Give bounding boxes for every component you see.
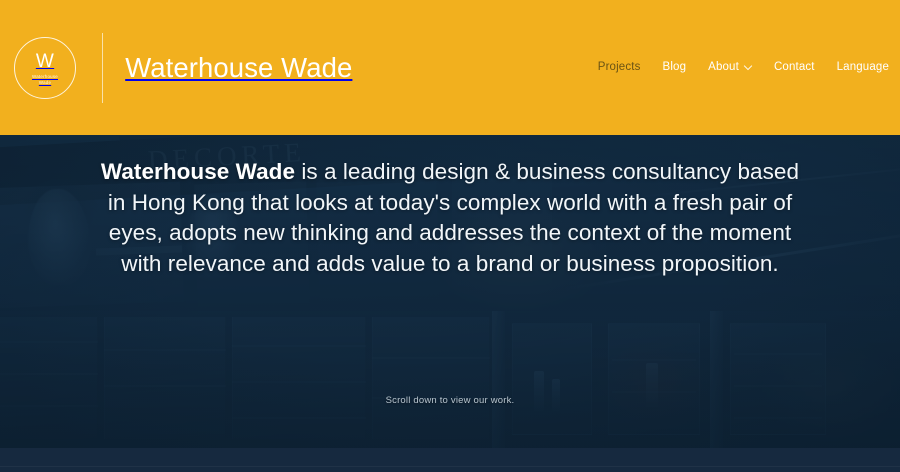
footer-divider: [0, 466, 900, 467]
nav-item-blog-label: Blog: [663, 61, 687, 73]
nav-item-projects-label: Projects: [598, 61, 641, 73]
circle-monogram-logo-icon: W Waterhouse Wade: [14, 37, 76, 99]
page-root: W Waterhouse Wade Waterhouse Wade Projec…: [0, 0, 900, 472]
site-footer: [0, 448, 900, 472]
hero-copy: Waterhouse Wade is a leading design & bu…: [0, 157, 900, 279]
nav-item-contact[interactable]: Contact: [763, 58, 826, 76]
nav-item-about[interactable]: About: [697, 58, 763, 76]
main-nav: Projects Blog About Contact Language: [587, 58, 900, 76]
hero-statement: Waterhouse Wade is a leading design & bu…: [90, 157, 810, 279]
hero-statement-brand: Waterhouse Wade: [101, 159, 295, 184]
brand-home-link[interactable]: W Waterhouse Wade Waterhouse Wade: [14, 30, 352, 106]
nav-item-contact-label: Contact: [774, 61, 815, 73]
scroll-hint[interactable]: Scroll down to view our work.: [0, 395, 900, 406]
brand-divider: [102, 33, 103, 103]
nav-item-about-label: About: [708, 61, 739, 73]
nav-item-blog[interactable]: Blog: [652, 58, 698, 76]
nav-item-language[interactable]: Language: [826, 58, 900, 76]
nav-item-language-label: Language: [837, 61, 889, 73]
logo-monogram: W: [36, 52, 54, 71]
wordmark: Waterhouse Wade: [125, 54, 352, 82]
nav-item-projects[interactable]: Projects: [587, 58, 652, 76]
logo-sub-line-2: Wade: [39, 80, 51, 86]
chevron-down-icon: [745, 63, 752, 70]
hero-section: DECORTE: [0, 135, 900, 448]
site-header: W Waterhouse Wade Waterhouse Wade Projec…: [0, 0, 900, 135]
